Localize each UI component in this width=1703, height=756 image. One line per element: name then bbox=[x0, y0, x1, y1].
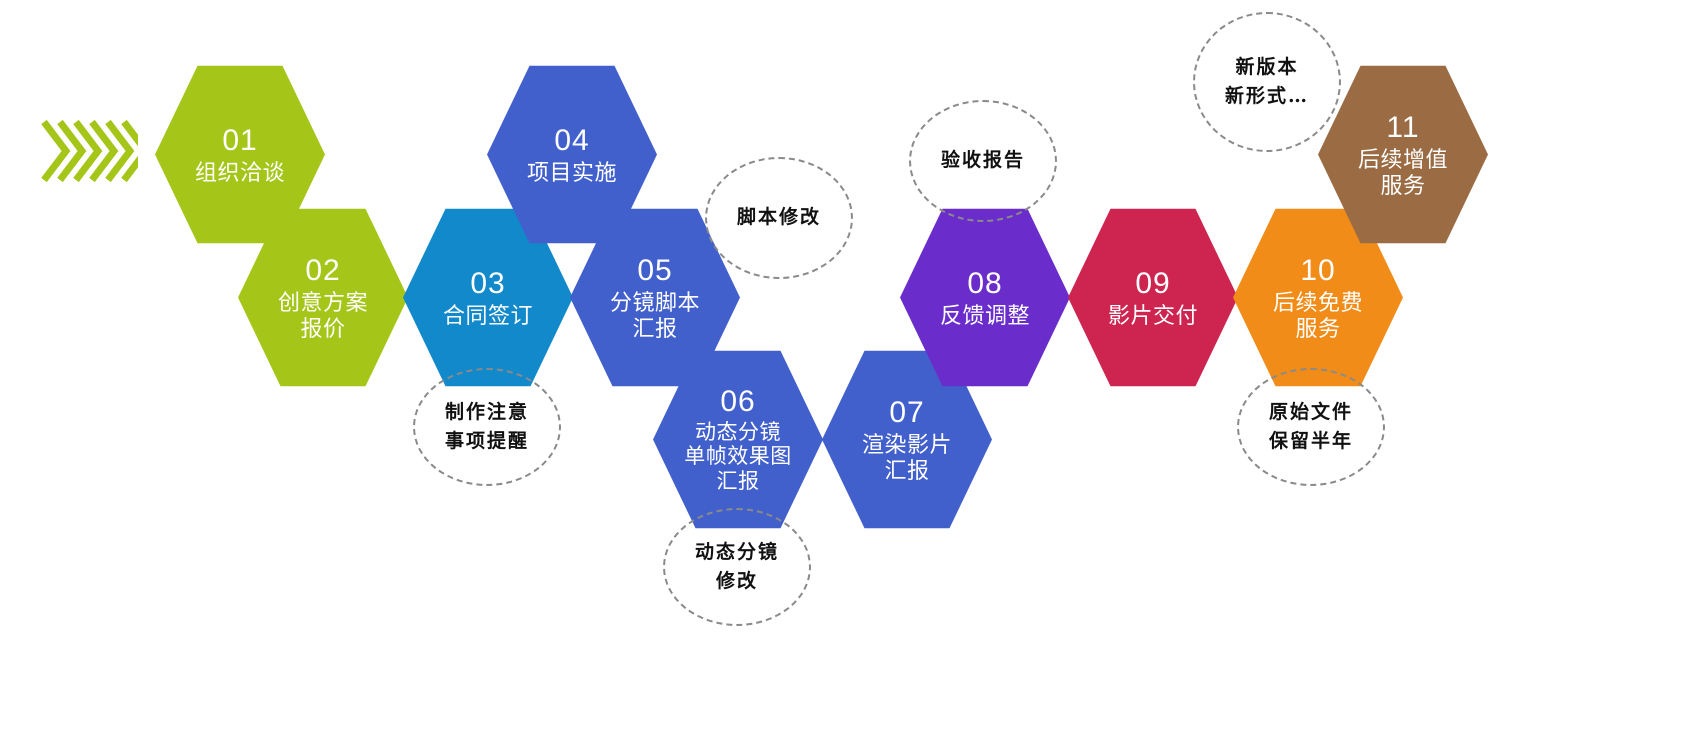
step-label: 渲染影片 汇报 bbox=[862, 432, 952, 484]
step-number: 08 bbox=[967, 266, 1002, 301]
step-hex-09[interactable]: 09 影片交付 bbox=[1068, 205, 1238, 390]
step-label: 后续增值 服务 bbox=[1358, 147, 1448, 199]
step-number: 10 bbox=[1300, 253, 1335, 288]
annotation-bubble-production-notes: 制作注意 事项提醒 bbox=[413, 368, 561, 486]
step-number: 06 bbox=[720, 384, 755, 419]
step-number: 04 bbox=[554, 123, 589, 158]
step-number: 09 bbox=[1135, 266, 1170, 301]
step-label: 创意方案 报价 bbox=[278, 290, 368, 342]
step-number: 07 bbox=[889, 395, 924, 430]
annotation-bubble-script-revision: 脚本修改 bbox=[705, 157, 853, 279]
step-label: 合同签订 bbox=[443, 303, 533, 329]
process-flow-diagram: 01 组织洽谈 02 创意方案 报价 03 合同签订 04 项目实施 05 分镜… bbox=[0, 0, 1703, 756]
step-label: 反馈调整 bbox=[940, 303, 1030, 329]
step-number: 01 bbox=[222, 123, 257, 158]
annotation-bubble-acceptance-report: 验收报告 bbox=[909, 100, 1057, 222]
step-label: 动态分镜 单帧效果图 汇报 bbox=[684, 421, 792, 495]
step-number: 11 bbox=[1386, 110, 1419, 145]
chevron-arrows-icon bbox=[38, 112, 138, 190]
step-number: 03 bbox=[470, 266, 505, 301]
annotation-bubble-new-version: 新版本 新形式… bbox=[1193, 12, 1341, 152]
annotation-bubble-file-retention: 原始文件 保留半年 bbox=[1237, 368, 1385, 486]
step-label: 分镜脚本 汇报 bbox=[610, 290, 700, 342]
annotation-bubble-animatic-revision: 动态分镜 修改 bbox=[663, 508, 811, 626]
step-label: 影片交付 bbox=[1108, 303, 1198, 329]
step-number: 05 bbox=[637, 253, 672, 288]
step-label: 后续免费 服务 bbox=[1273, 290, 1363, 342]
step-number: 02 bbox=[305, 253, 340, 288]
step-label: 组织洽谈 bbox=[195, 160, 285, 186]
step-label: 项目实施 bbox=[527, 160, 617, 186]
